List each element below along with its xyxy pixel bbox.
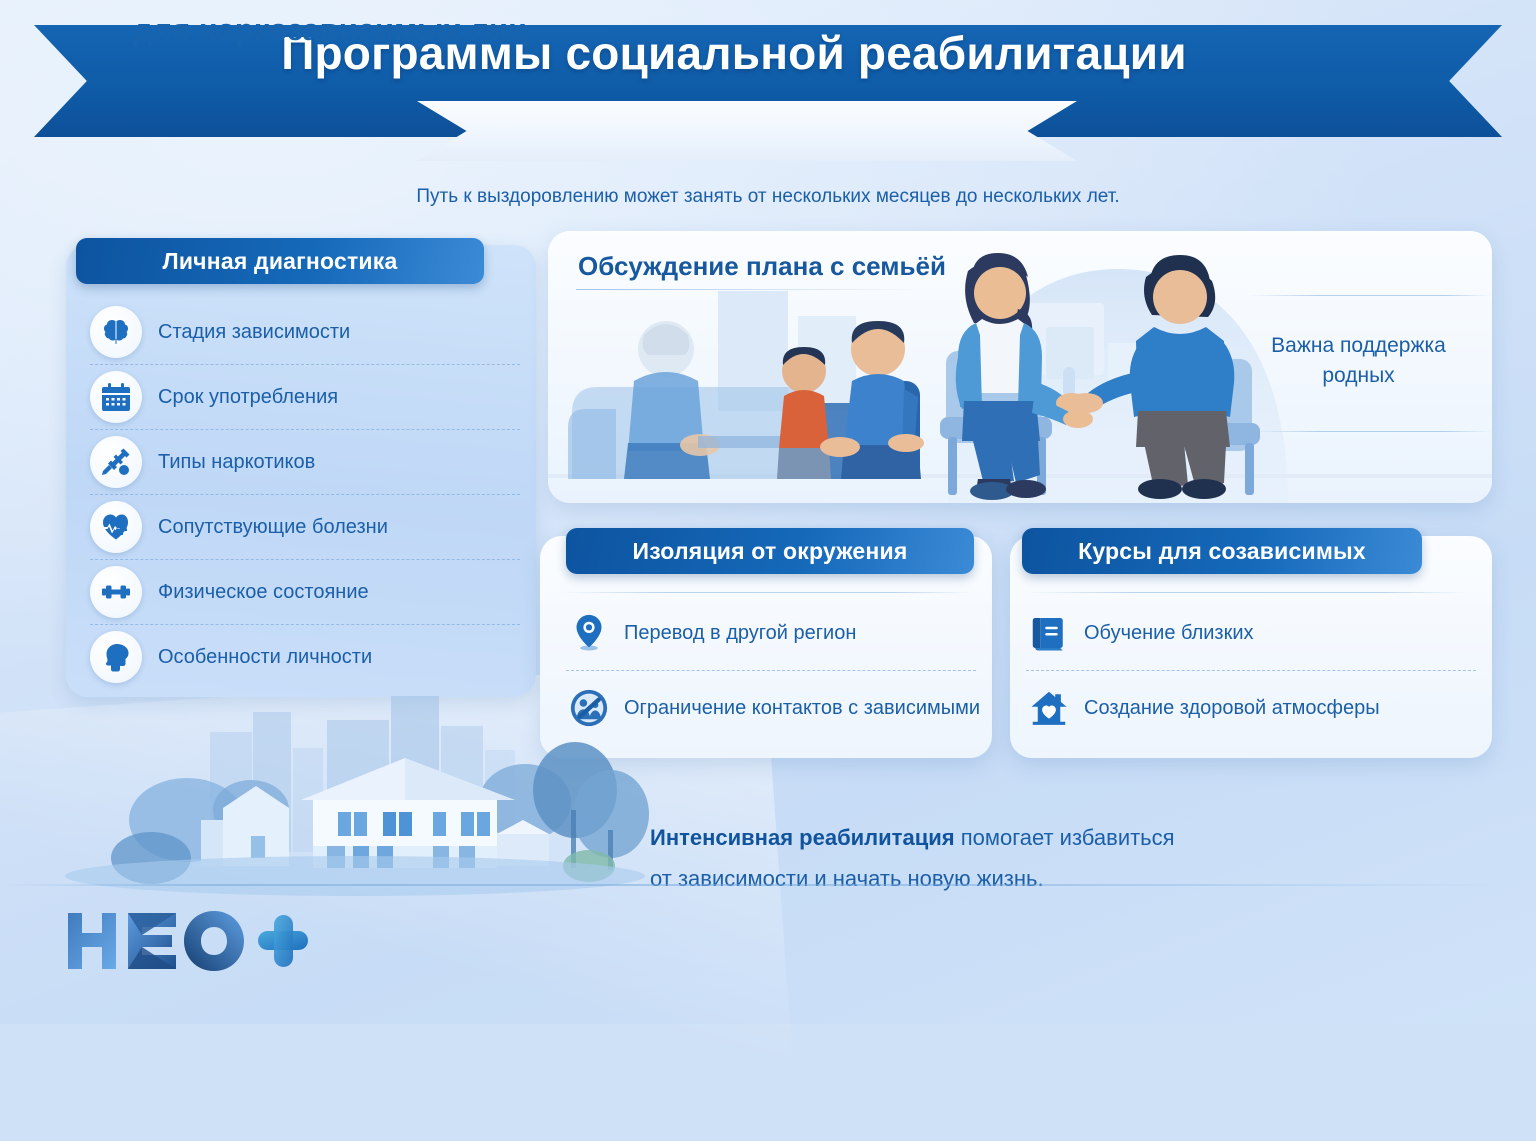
house-neighbourhood-illustration: [55, 690, 655, 905]
list-item-label: Особенности личности: [158, 646, 372, 669]
intro-text: Путь к выздоровлению может занять от нес…: [0, 186, 1536, 208]
list-item[interactable]: Сопутствующие болезни: [90, 495, 520, 560]
list-item[interactable]: Особенности личности: [90, 625, 520, 689]
list-item[interactable]: Обучение близких: [1026, 596, 1476, 671]
list-item-label: Ограничение контактов с зависимыми: [624, 697, 980, 720]
courses-top-divider: [1026, 592, 1466, 593]
infographic-canvas: Программы социальной реабилитации для на…: [0, 0, 1536, 1024]
list-item-label: Перевод в другой регион: [624, 622, 856, 645]
list-item-label: Срок употребления: [158, 386, 338, 409]
family-discussion-card: Обсуждение плана с семьёй Важна поддержк…: [548, 231, 1492, 503]
syringe-icon: [90, 436, 142, 488]
isolation-heading-pill: Изоляция от окружения: [566, 528, 974, 574]
list-item-label: Создание здоровой атмосферы: [1084, 697, 1380, 720]
list-item[interactable]: Физическое состояние: [90, 560, 520, 625]
house-heart-icon: [1026, 685, 1072, 731]
heart-pulse-icon: [90, 501, 142, 553]
footer-message: Интенсивная реабилитация помогает избави…: [650, 818, 1410, 899]
list-item-label: Стадия зависимости: [158, 321, 350, 344]
list-item[interactable]: Стадия зависимости: [90, 300, 520, 365]
courses-heading: Курсы для созависимых: [1078, 538, 1366, 565]
courses-list: Обучение близких Создание здоровой атмос…: [1026, 596, 1476, 745]
diagnostics-heading: Личная диагностика: [163, 248, 398, 275]
list-item-label: Физическое состояние: [158, 581, 369, 604]
calendar-icon: [90, 371, 142, 423]
book-icon: [1026, 610, 1072, 656]
list-item-label: Сопутствующие болезни: [158, 516, 388, 539]
diagnostics-heading-pill: Личная диагностика: [76, 238, 484, 284]
hero-underline: [576, 289, 921, 290]
footer-lead: Интенсивная реабилитация: [650, 825, 955, 850]
isolation-top-divider: [562, 592, 972, 593]
hero-accent-line-bottom: [1248, 431, 1492, 432]
list-item[interactable]: Срок употребления: [90, 365, 520, 430]
list-item-label: Обучение близких: [1084, 622, 1254, 645]
footer-rest: помогает избавиться: [955, 825, 1175, 850]
hero-caption: Важна поддержка родных: [1251, 331, 1466, 392]
subtitle-ribbon: [417, 101, 1077, 161]
brain-icon: [90, 306, 142, 358]
head-profile-icon: [90, 631, 142, 683]
list-item[interactable]: Создание здоровой атмосферы: [1026, 671, 1476, 745]
list-item-label: Типы наркотиков: [158, 451, 315, 474]
hero-title: Обсуждение плана с семьёй: [578, 251, 946, 282]
page-subtitle: для наркозависимых лиц: [0, 12, 660, 48]
list-item[interactable]: Типы наркотиков: [90, 430, 520, 495]
courses-heading-pill: Курсы для созависимых: [1022, 528, 1422, 574]
footer-divider: [0, 884, 1536, 886]
location-pin-icon: [566, 610, 612, 656]
hero-accent-line-top: [1248, 295, 1492, 296]
footer-line2: от зависимости и начать новую жизнь.: [650, 866, 1044, 891]
diagnostics-list: Стадия зависимости Срок употребления: [90, 300, 520, 689]
list-item[interactable]: Перевод в другой регион: [566, 596, 976, 671]
dumbbell-icon: [90, 566, 142, 618]
brand-logo: [62, 905, 312, 977]
isolation-heading: Изоляция от окружения: [633, 538, 908, 565]
